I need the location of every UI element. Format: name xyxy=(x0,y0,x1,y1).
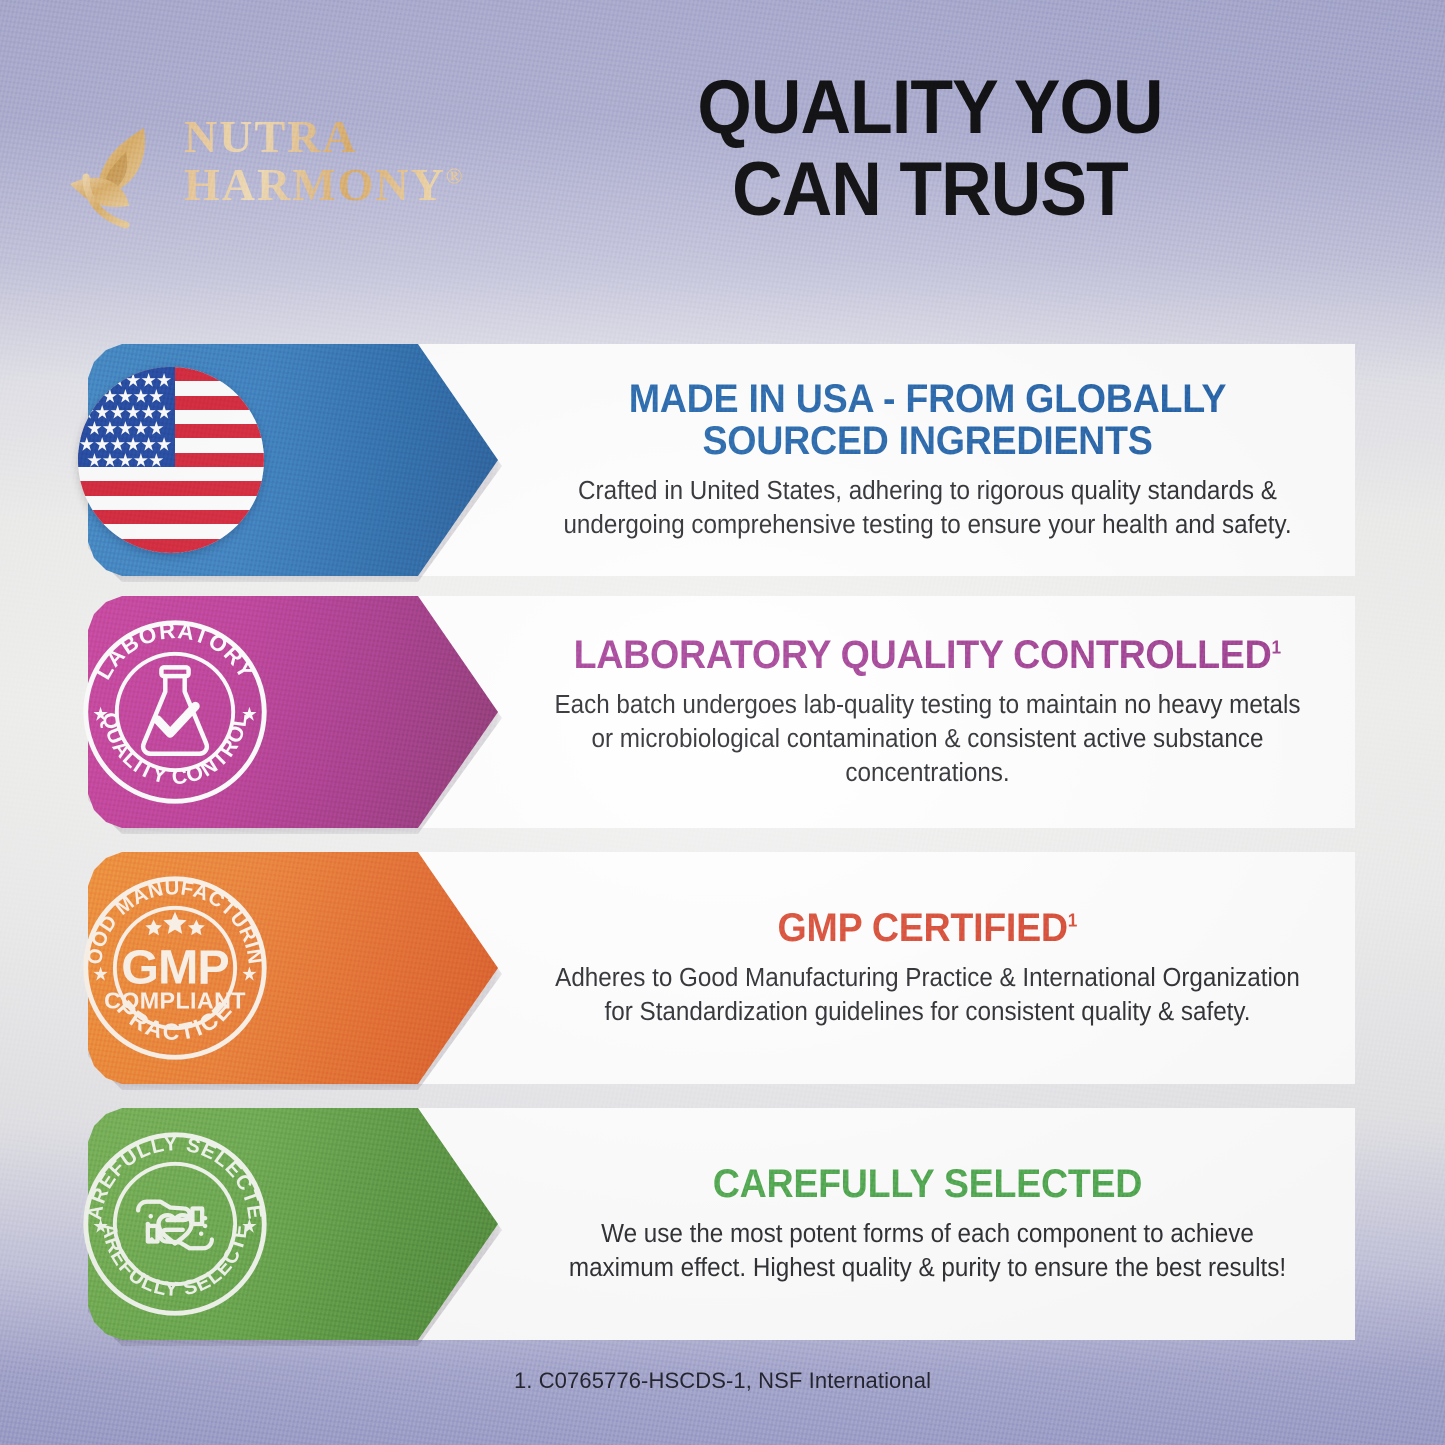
feature-title: MADE IN USA - FROM GLOBALLY SOURCED INGR… xyxy=(550,378,1305,462)
feature-title: GMP CERTIFIED1 xyxy=(778,907,1078,949)
feature-text: LABORATORY QUALITY CONTROLLED1 Each batc… xyxy=(500,596,1355,828)
svg-text:GMP: GMP xyxy=(121,941,229,995)
feature-body: We use the most potent forms of each com… xyxy=(546,1217,1309,1285)
gmp-compliant-stamp-icon: GOOD MANUFACTURING PRACTICE GMP COMPLIAN… xyxy=(78,871,272,1065)
brand-wordmark: NUTRA HARMONY® xyxy=(184,114,584,208)
brand-line-2-text: HARMONY xyxy=(184,159,446,210)
feature-title-text: GMP CERTIFIED xyxy=(778,906,1068,950)
feature-text: GMP CERTIFIED1 Adheres to Good Manufactu… xyxy=(500,852,1355,1084)
footnote: 1. C0765776-HSCDS-1, NSF International xyxy=(0,1368,1445,1394)
feature-body: Each batch undergoes lab-quality testing… xyxy=(546,688,1309,790)
badge-container: CAREFULLY SELECTED CAREFULLY SELECTED xyxy=(0,1108,410,1340)
usa-flag-circle-icon xyxy=(78,367,264,553)
feature-text: CAREFULLY SELECTED We use the most poten… xyxy=(500,1108,1355,1340)
brand-line-1: NUTRA xyxy=(184,114,584,160)
feature-row-laboratory-quality-controlled: LABORATORY QUALITY CONTROL LABORATORY QU… xyxy=(0,596,1445,828)
footnote-marker: 1 xyxy=(1272,636,1281,657)
feature-title: CAREFULLY SELECTED xyxy=(713,1163,1142,1205)
brand-line-2: HARMONY® xyxy=(184,162,584,208)
svg-text:LABORATORY: LABORATORY xyxy=(90,618,259,684)
feature-title-text: MADE IN USA - FROM GLOBALLY SOURCED INGR… xyxy=(629,377,1226,463)
badge-container xyxy=(0,344,410,576)
feature-row-made-in-usa: MADE IN USA - FROM GLOBALLY SOURCED INGR… xyxy=(0,344,1445,576)
page-title-line-1: QUALITY YOU xyxy=(697,65,1162,150)
feature-title-text: CAREFULLY SELECTED xyxy=(713,1162,1142,1206)
feature-text: MADE IN USA - FROM GLOBALLY SOURCED INGR… xyxy=(500,344,1355,576)
badge-container: GOOD MANUFACTURING PRACTICE GMP COMPLIAN… xyxy=(0,852,410,1084)
page-title: QUALITY YOU CAN TRUST xyxy=(626,72,1233,226)
brand-logo: NUTRA HARMONY® xyxy=(66,108,526,248)
feature-title-text: LABORATORY QUALITY CONTROLLED xyxy=(574,633,1272,677)
page-title-line-2: CAN TRUST xyxy=(626,154,1233,226)
svg-text:COMPLIANT: COMPLIANT xyxy=(104,988,246,1014)
laboratory-quality-control-stamp-icon: LABORATORY QUALITY CONTROL xyxy=(78,615,272,809)
feature-body: Crafted in United States, adhering to ri… xyxy=(546,474,1309,542)
feature-body: Adheres to Good Manufacturing Practice &… xyxy=(546,961,1309,1029)
registered-trademark-icon: ® xyxy=(446,164,462,189)
quality-infographic-page: NUTRA HARMONY® QUALITY YOU CAN TRUST xyxy=(0,0,1445,1445)
badge-container: LABORATORY QUALITY CONTROL xyxy=(0,596,410,828)
carefully-selected-stamp-icon: CAREFULLY SELECTED CAREFULLY SELECTED xyxy=(78,1127,272,1321)
footnote-marker: 1 xyxy=(1068,910,1077,931)
feature-title: LABORATORY QUALITY CONTROLLED1 xyxy=(574,634,1281,676)
feature-row-carefully-selected: CAREFULLY SELECTED CAREFULLY SELECTED xyxy=(0,1108,1445,1340)
flag-canton xyxy=(78,367,175,467)
leaf-icon xyxy=(66,122,178,230)
feature-row-gmp-certified: GOOD MANUFACTURING PRACTICE GMP COMPLIAN… xyxy=(0,852,1445,1084)
